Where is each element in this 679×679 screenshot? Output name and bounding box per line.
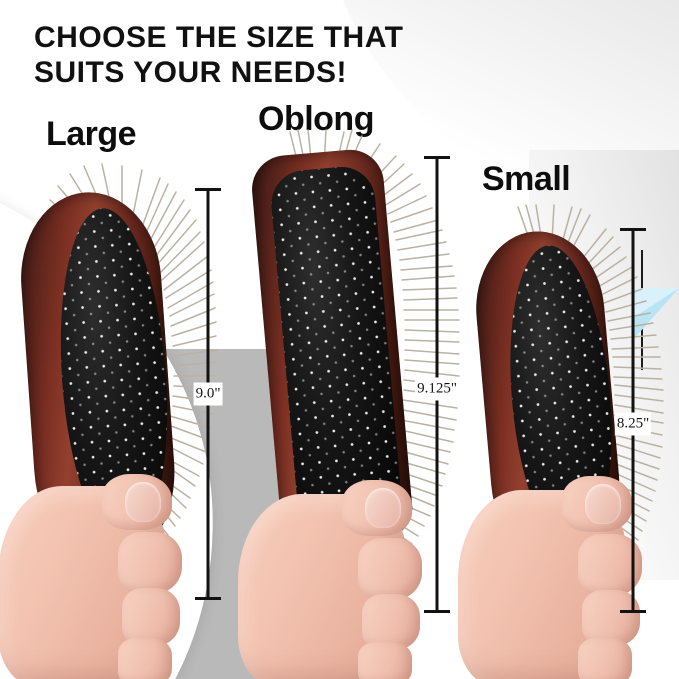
ruler-cap-bottom bbox=[424, 610, 450, 613]
dimension-value-small: 8.25" bbox=[615, 413, 651, 436]
ruler-cap-bottom bbox=[620, 610, 646, 613]
hand-holding-oblong bbox=[228, 448, 453, 679]
dimension-ruler-large: 9.0" bbox=[195, 188, 221, 600]
dimension-ruler-small: 8.25" bbox=[620, 228, 646, 613]
page-title: CHOOSE THE SIZE THAT SUITS YOUR NEEDS! bbox=[34, 20, 403, 91]
product-label-large: Large bbox=[46, 115, 136, 154]
infographic-canvas: CHOOSE THE SIZE THAT SUITS YOUR NEEDS! L… bbox=[0, 0, 679, 679]
product-label-small: Small bbox=[482, 160, 570, 199]
dimension-value-oblong: 9.125" bbox=[415, 378, 459, 401]
dimension-ruler-oblong: 9.125" bbox=[424, 156, 450, 613]
dimension-value-large: 9.0" bbox=[194, 383, 223, 406]
hand-holding-large bbox=[0, 440, 215, 679]
ruler-cap-top bbox=[195, 188, 221, 191]
ruler-cap-bottom bbox=[195, 597, 221, 600]
ruler-cap-top bbox=[424, 156, 450, 159]
ruler-cap-top bbox=[620, 228, 646, 231]
